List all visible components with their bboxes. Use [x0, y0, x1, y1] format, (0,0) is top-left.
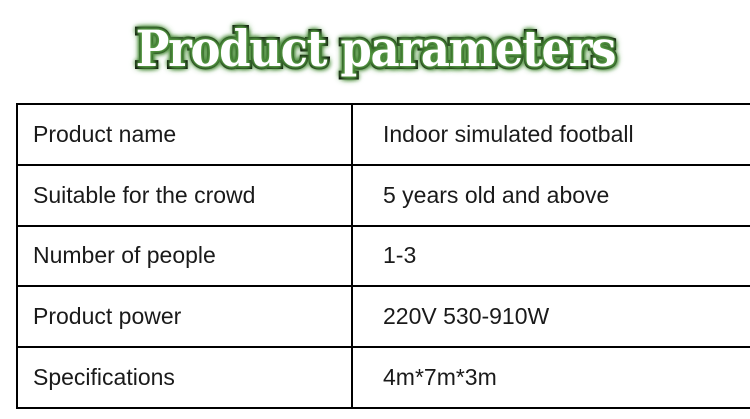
table-row: Product power 220V 530-910W: [17, 286, 750, 347]
parameter-label: Product power: [17, 286, 352, 347]
parameter-label: Suitable for the crowd: [17, 165, 352, 226]
parameter-value: 1-3: [352, 226, 750, 287]
parameter-value: 220V 530-910W: [352, 286, 750, 347]
table-row: Specifications 4m*7m*3m: [17, 347, 750, 408]
parameter-value: 4m*7m*3m: [352, 347, 750, 408]
table-row: Product name Indoor simulated football: [17, 104, 750, 165]
page-title: Product parameters: [135, 22, 614, 76]
page-title-container: Product parameters: [0, 18, 750, 80]
parameter-label: Specifications: [17, 347, 352, 408]
table-row: Suitable for the crowd 5 years old and a…: [17, 165, 750, 226]
parameter-label: Product name: [17, 104, 352, 165]
parameter-label: Number of people: [17, 226, 352, 287]
product-parameters-table: Product name Indoor simulated football S…: [16, 103, 750, 409]
table-row: Number of people 1-3: [17, 226, 750, 287]
parameter-value: 5 years old and above: [352, 165, 750, 226]
parameter-value: Indoor simulated football: [352, 104, 750, 165]
table-body: Product name Indoor simulated football S…: [17, 104, 750, 408]
